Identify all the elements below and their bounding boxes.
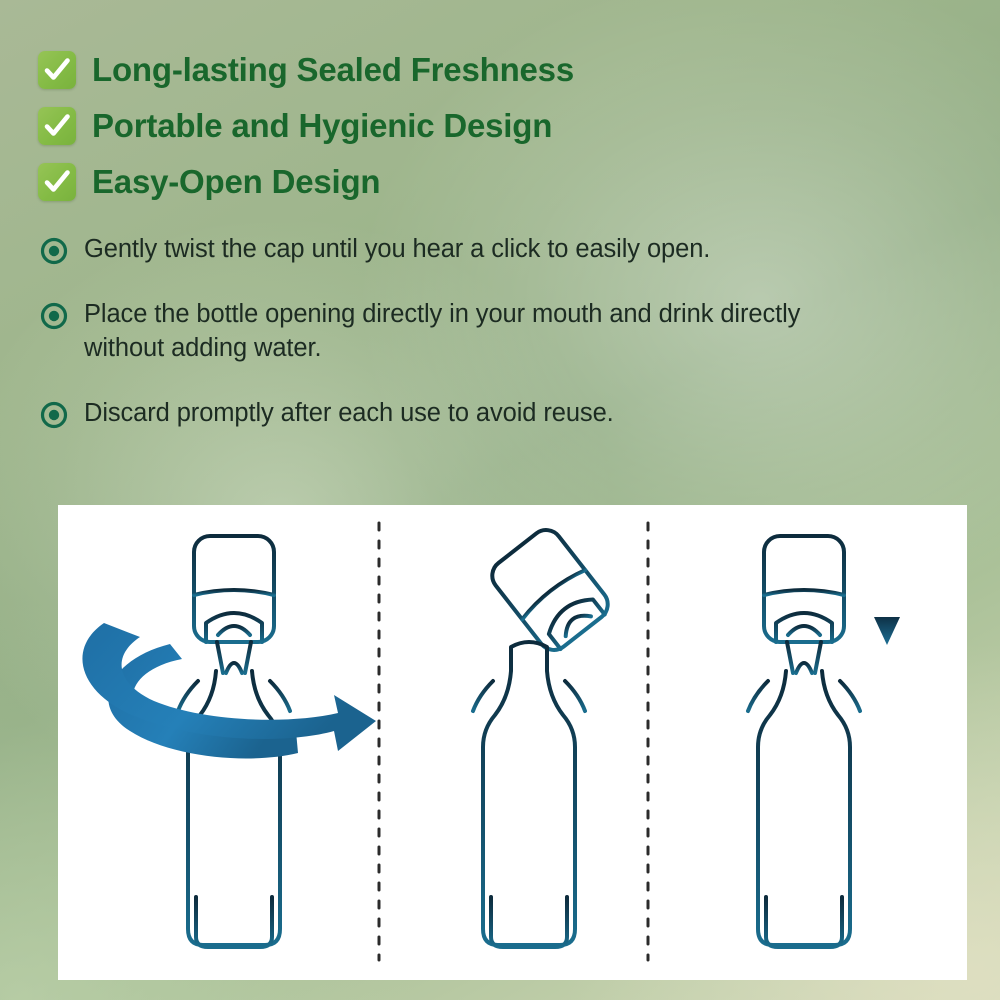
instruction-text: Gently twist the cap until you hear a cl… — [84, 232, 710, 266]
instruction-list: Gently twist the cap until you hear a cl… — [40, 232, 830, 461]
feature-label: Portable and Hygienic Design — [92, 107, 552, 145]
feature-label: Easy-Open Design — [92, 163, 380, 201]
instruction-item: Place the bottle opening directly in you… — [40, 297, 830, 365]
feature-list: Long-lasting Sealed Freshness Portable a… — [38, 42, 574, 210]
bottle-with-tilted-cap-icon — [471, 524, 614, 957]
feature-label: Long-lasting Sealed Freshness — [92, 51, 574, 89]
bottle-with-down-arrow-icon — [746, 536, 862, 957]
check-square-icon — [38, 51, 76, 89]
check-square-icon — [38, 163, 76, 201]
usage-illustration-panel — [58, 505, 967, 980]
down-arrow-icon — [874, 557, 900, 645]
feature-item: Long-lasting Sealed Freshness — [38, 42, 574, 98]
radio-bullet-icon — [40, 302, 68, 330]
instruction-text: Place the bottle opening directly in you… — [84, 297, 804, 365]
radio-bullet-icon — [40, 237, 68, 265]
radio-bullet-icon — [40, 401, 68, 429]
instruction-item: Gently twist the cap until you hear a cl… — [40, 232, 830, 266]
instruction-item: Discard promptly after each use to avoid… — [40, 396, 830, 430]
product-feature-infographic: Long-lasting Sealed Freshness Portable a… — [0, 0, 1000, 1000]
feature-item: Easy-Open Design — [38, 154, 574, 210]
feature-item: Portable and Hygienic Design — [38, 98, 574, 154]
check-square-icon — [38, 107, 76, 145]
usage-illustration-svg — [58, 505, 967, 980]
instruction-text: Discard promptly after each use to avoid… — [84, 396, 614, 430]
